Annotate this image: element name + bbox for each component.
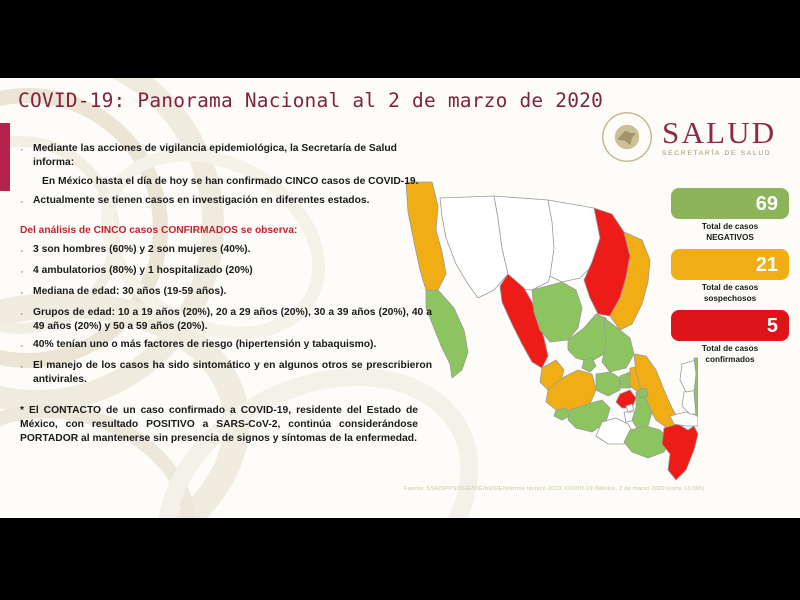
analysis-heading: Del análisis de CINCO casos CONFIRMADOS … (20, 225, 432, 236)
stat-sospechosos: 21 Total de casos sospechosos (671, 249, 789, 304)
list-item: · El manejo de los casos ha sido sintomá… (20, 359, 432, 387)
stat-label-line2: NEGATIVOS (671, 233, 789, 244)
stat-label-line1: Total de casos (702, 344, 758, 353)
statistics-panel: 69 Total de casos NEGATIVOS (671, 188, 789, 371)
list-item: · 40% tenían uno o más factores de riesg… (20, 338, 432, 354)
bullet-dot-icon: · (20, 142, 33, 158)
analysis-bullet-3: Mediana de edad: 30 años (19-59 años). (33, 285, 432, 299)
group-of-people-icon (679, 192, 720, 215)
source-citation: Fuente: SSA/SPPS/DGE/DIE/InDRE/Informe t… (404, 486, 796, 492)
intro-continuation: En México hasta el día de hoy se han con… (42, 175, 432, 189)
state-chiapas (662, 424, 698, 480)
list-item: · Grupos de edad: 10 a 19 años (20%), 20… (20, 306, 432, 334)
list-item: · Actualmente se tienen casos en investi… (20, 194, 432, 210)
analysis-bullet-5: 40% tenían uno o más factores de riesgo … (33, 338, 432, 352)
logo-text-group: SALUD SECRETARÍA DE SALUD (662, 117, 776, 158)
footnote-text: * El CONTACTO de un caso confirmado a CO… (20, 404, 418, 446)
stat-negativos: 69 Total de casos NEGATIVOS (671, 188, 789, 243)
stat-label-line2: sospechosos (671, 294, 789, 305)
stat-label-negativos: Total de casos NEGATIVOS (671, 222, 789, 243)
salud-logo: SALUD SECRETARÍA DE SALUD (602, 108, 794, 166)
state-estado-de-mexico (616, 390, 636, 408)
screenshot-frame: COVID-19: Panorama Nacional al 2 de marz… (0, 0, 800, 600)
group-of-people-icon (679, 253, 720, 276)
stat-value-negativos: 69 (756, 194, 778, 214)
bullet-dot-icon: · (20, 285, 33, 301)
stat-label-confirmados: Total de casos confirmados (671, 344, 789, 365)
letterbox-top (0, 0, 800, 78)
status-badge-negativos: 69 (671, 188, 789, 219)
state-tlaxcala (638, 388, 648, 398)
stat-label-line1: Total de casos (702, 222, 758, 231)
bullet-dot-icon: · (20, 306, 33, 322)
logo-wordmark: SALUD (662, 117, 776, 148)
presentation-slide: COVID-19: Panorama Nacional al 2 de marz… (0, 78, 800, 518)
bullet-dot-icon: · (20, 243, 33, 259)
mexico-choropleth-map (398, 178, 698, 488)
logo-subtitle: SECRETARÍA DE SALUD (662, 151, 776, 158)
two-people-icon (679, 314, 695, 337)
slide-title: COVID-19: Panorama Nacional al 2 de marz… (18, 89, 658, 112)
analysis-bullet-6: El manejo de los casos ha sido sintomáti… (33, 359, 432, 387)
slide-body-text: · Mediante las acciones de vigilancia ep… (20, 142, 432, 446)
list-item: · Mediante las acciones de vigilancia ep… (20, 142, 432, 170)
state-baja-california-sur (426, 290, 468, 378)
intro-bullet-1: Mediante las acciones de vigilancia epid… (33, 142, 432, 170)
list-item: · 4 ambulatorios (80%) y 1 hospitalizado… (20, 264, 432, 280)
stat-label-sospechosos: Total de casos sospechosos (671, 283, 789, 304)
analysis-bullet-1: 3 son hombres (60%) y 2 son mujeres (40%… (33, 243, 432, 257)
bullet-dot-icon: · (20, 264, 33, 280)
list-item: · Mediana de edad: 30 años (19-59 años). (20, 285, 432, 301)
stat-label-line2: confirmados (671, 355, 789, 366)
stat-value-confirmados: 5 (767, 316, 778, 336)
state-guanajuato (596, 372, 620, 396)
left-accent-bar (0, 123, 10, 191)
stat-label-line1: Total de casos (702, 283, 758, 292)
bullet-dot-icon: · (20, 194, 33, 210)
stat-value-sospechosos: 21 (756, 255, 778, 275)
analysis-bullet-4: Grupos de edad: 10 a 19 años (20%), 20 a… (33, 306, 432, 334)
analysis-bullet-2: 4 ambulatorios (80%) y 1 hospitalizado (… (33, 264, 432, 278)
stat-confirmados: 5 Total de casos confirmados (671, 310, 789, 365)
letterbox-bottom (0, 518, 800, 600)
status-badge-sospechosos: 21 (671, 249, 789, 280)
bullet-dot-icon: · (20, 359, 33, 375)
list-item: · 3 son hombres (60%) y 2 son mujeres (4… (20, 243, 432, 259)
state-ciudad-de-mexico (626, 404, 634, 412)
bullet-dot-icon: · (20, 338, 33, 354)
status-badge-confirmados: 5 (671, 310, 789, 341)
escudo-nacional-icon (602, 112, 652, 162)
intro-bullet-2: Actualmente se tienen casos en investiga… (33, 194, 432, 208)
